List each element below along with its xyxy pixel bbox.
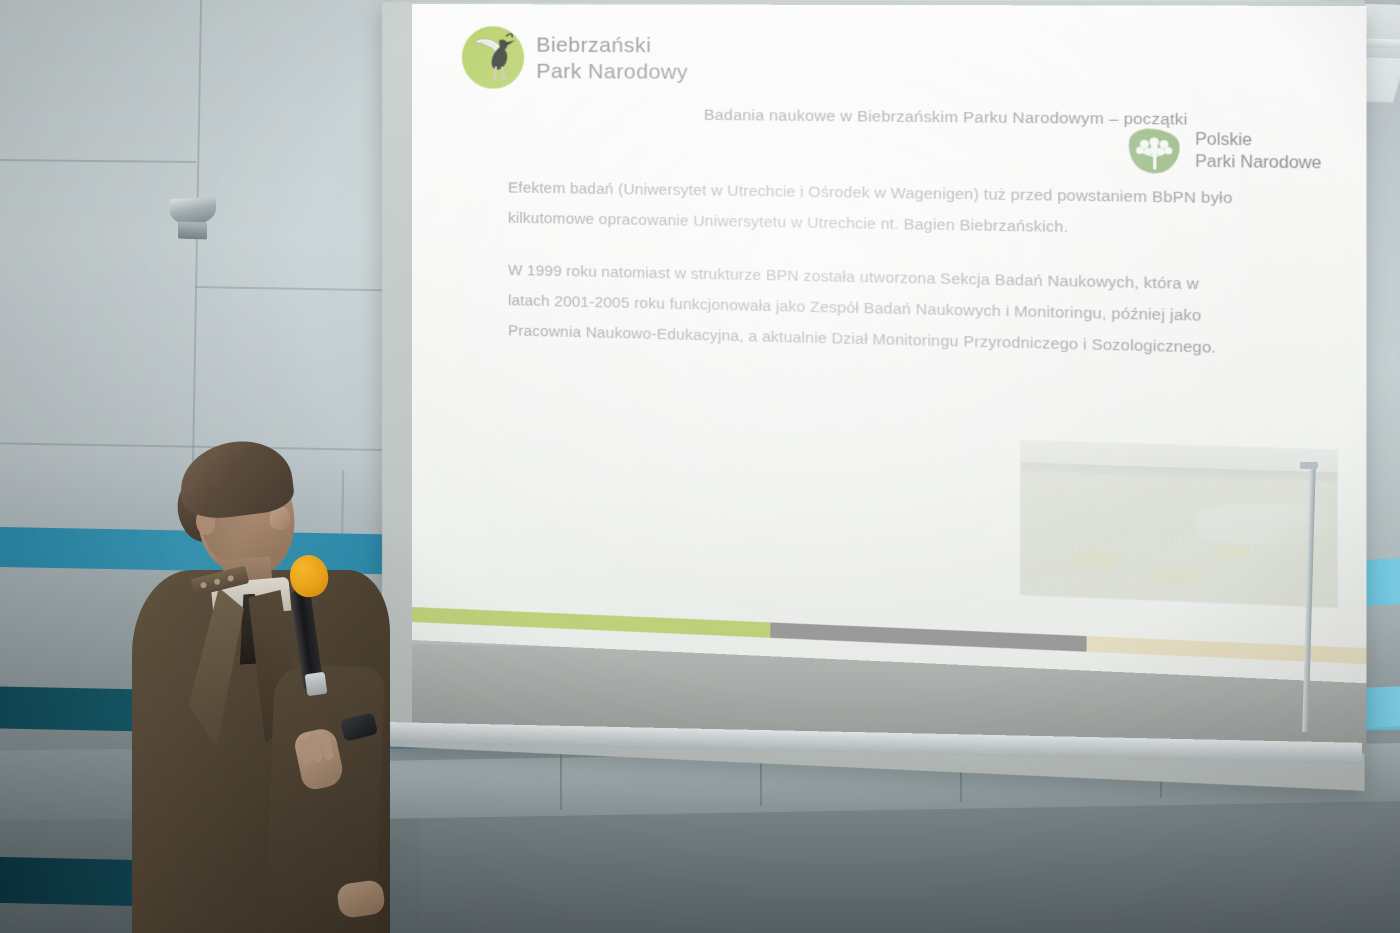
slide-paragraph: W 1999 roku natomiast w strukturze BPN z… bbox=[508, 256, 1248, 365]
conference-room-photo: Biebrzański Park Narodowy Badania naukow… bbox=[0, 0, 1400, 933]
shoulder-pip-icon bbox=[200, 581, 207, 588]
org-title-line-1: Biebrzański bbox=[536, 32, 688, 59]
footer-segment-gray bbox=[770, 622, 1087, 651]
slide-photo-wetland bbox=[1021, 441, 1338, 608]
partner-title-line-1: Polskie bbox=[1195, 129, 1322, 153]
org-title-line-2: Park Narodowy bbox=[536, 59, 688, 86]
polskie-parki-narodowe-logo: Polskie Parki Narodowe bbox=[1125, 123, 1322, 180]
lecture-hall-seating bbox=[0, 693, 1400, 933]
screen-pole-bracket bbox=[1300, 462, 1318, 469]
projected-slide: Biebrzański Park Narodowy Badania naukow… bbox=[412, 4, 1367, 683]
shoulder-pip-icon bbox=[227, 575, 234, 582]
slide-subtitle: Badania naukowe w Biebrzańskim Parku Nar… bbox=[704, 107, 1188, 130]
poland-tree-icon bbox=[1125, 123, 1184, 178]
wall-uplight-sconce bbox=[170, 198, 216, 230]
footer-segment-beige bbox=[1087, 636, 1367, 664]
slide-body-text: Efektem badań (Uniwersytet w Utrechcie i… bbox=[508, 173, 1248, 388]
shoulder-pip-icon bbox=[213, 578, 220, 585]
microphone-base bbox=[305, 672, 328, 697]
lapwing-bird-icon bbox=[466, 28, 524, 87]
footer-segment-green bbox=[412, 607, 770, 638]
slide-paragraph: Efektem badań (Uniwersytet w Utrechcie i… bbox=[508, 173, 1248, 246]
slide-org-title: Biebrzański Park Narodowy bbox=[536, 32, 688, 86]
partner-logo-text: Polskie Parki Narodowe bbox=[1195, 129, 1322, 175]
partner-title-line-2: Parki Narodowe bbox=[1195, 151, 1322, 175]
sconce-base bbox=[178, 221, 207, 239]
projection-screen-assembly: Biebrzański Park Narodowy Badania naukow… bbox=[382, 0, 1322, 756]
biebrzanski-park-logo bbox=[462, 26, 524, 89]
